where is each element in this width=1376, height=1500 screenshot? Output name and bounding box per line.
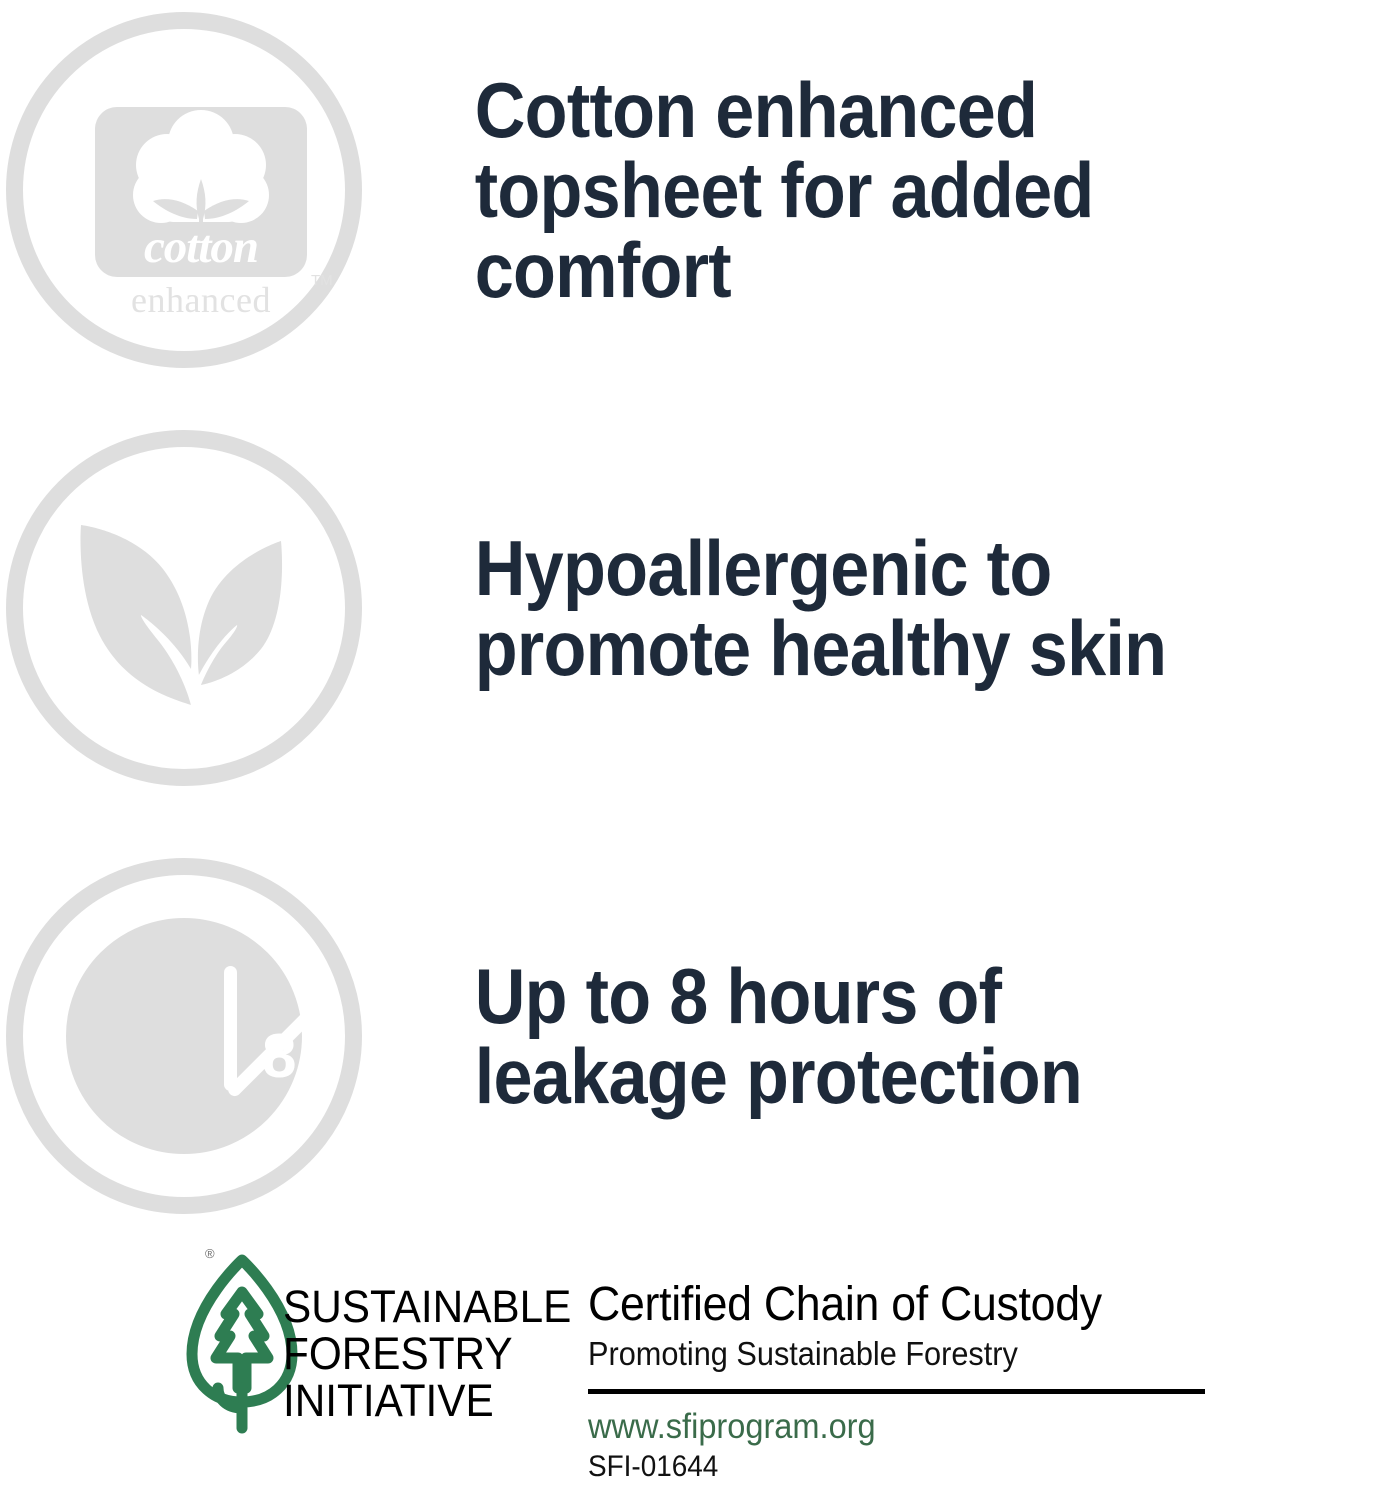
- sfi-website-url[interactable]: www.sfiprogram.org: [588, 1408, 1183, 1447]
- feature-row-hypoallergenic: Hypoallergenic to promote healthy skin: [0, 424, 1376, 792]
- feature-heading-cotton: Cotton enhanced topsheet for added comfo…: [400, 70, 1278, 311]
- feature-row-leakage-protection: 8 Up to 8 hours of leakage protection: [0, 852, 1376, 1220]
- horizontal-rule: [588, 1389, 1205, 1394]
- leaf-icon-slot: [0, 424, 400, 792]
- certification-title: Certified Chain of Custody: [588, 1280, 1183, 1330]
- cotton-wordmark: cotton: [95, 224, 307, 271]
- registered-trademark-symbol: ®: [205, 1246, 215, 1261]
- trademark-symbol: TM: [311, 272, 333, 289]
- two-leaves-glyph: [23, 447, 345, 769]
- sfi-certificate-code: SFI-01644: [588, 1450, 1183, 1483]
- clock-digit-8: 8: [262, 1026, 296, 1088]
- product-feature-infographic: cotton enhanced TM Cotton enhanced topsh…: [0, 0, 1376, 1500]
- cotton-enhanced-icon: cotton enhanced TM: [6, 12, 362, 368]
- sfi-certification-text: Certified Chain of Custody Promoting Sus…: [588, 1280, 1228, 1483]
- feature-row-cotton: cotton enhanced TM Cotton enhanced topsh…: [0, 6, 1376, 374]
- clock-hour-hand: [224, 966, 237, 1091]
- cotton-logo-plate: cotton: [95, 107, 307, 277]
- sfi-certification-block: ® SUSTAINABLE FORESTRY INITIATIVE Certif…: [0, 1244, 1376, 1500]
- feature-heading-hypoallergenic: Hypoallergenic to promote healthy skin: [400, 528, 1278, 689]
- feature-heading-leakage: Up to 8 hours of leakage protection: [400, 956, 1278, 1117]
- clock-icon: 8: [6, 858, 362, 1214]
- cotton-enhanced-subtext: enhanced: [95, 279, 307, 321]
- clock-icon-slot: 8: [0, 852, 400, 1220]
- clock-face: 8: [52, 904, 316, 1168]
- cotton-enhanced-icon-slot: cotton enhanced TM: [0, 6, 400, 374]
- sfi-wordmark: SUSTAINABLE FORESTRY INITIATIVE: [283, 1284, 571, 1424]
- certification-subtitle: Promoting Sustainable Forestry: [588, 1336, 1183, 1372]
- leaf-icon: [6, 430, 362, 786]
